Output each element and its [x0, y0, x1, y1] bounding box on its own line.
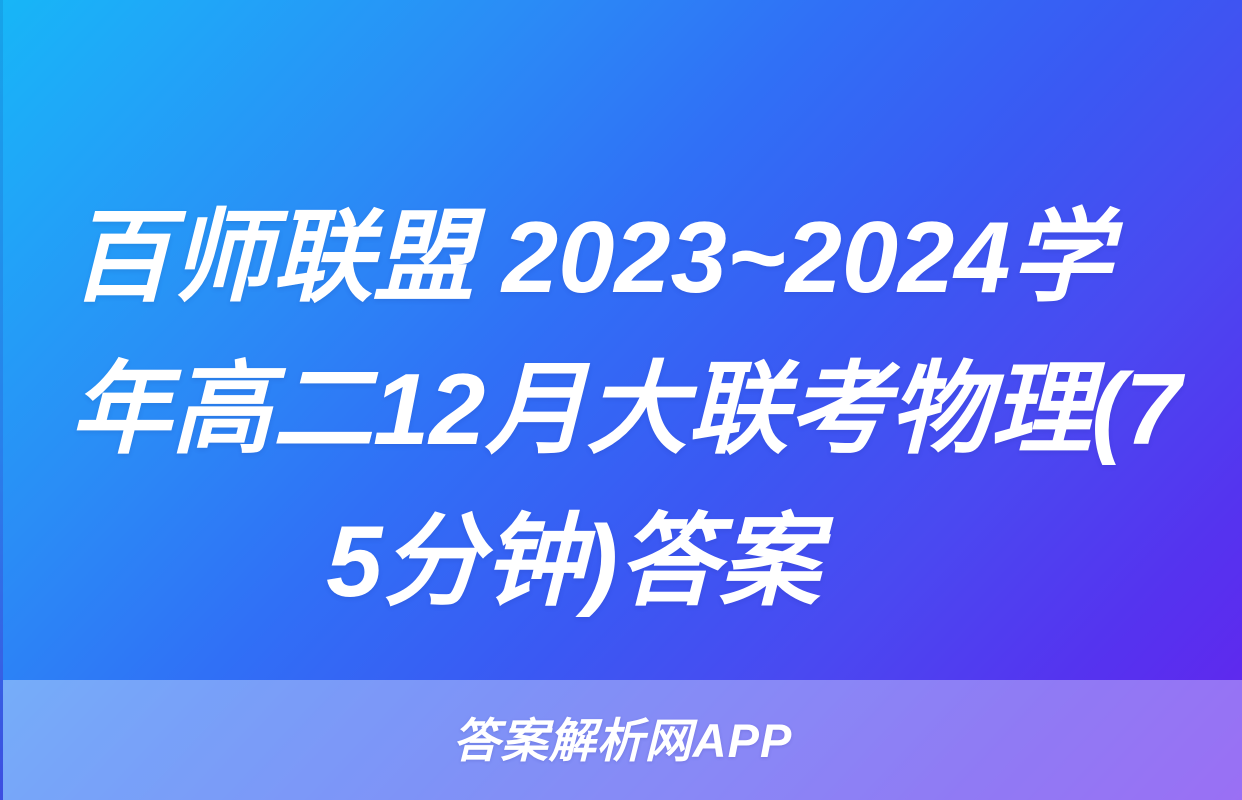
footer-watermark-band: 答案解析网APP	[3, 680, 1242, 800]
app-watermark-label: 答案解析网APP	[453, 717, 793, 764]
poster-card: 百师联盟 2023~2024学 年高二12月大联考物理(7 5分钟)答案 答案解…	[0, 0, 1242, 800]
title-line-2: 年高二12月大联考物理(7	[70, 334, 1172, 486]
page-title: 百师联盟 2023~2024学 年高二12月大联考物理(7 5分钟)答案	[0, 182, 1242, 638]
title-line-3: 5分钟)答案	[70, 486, 1172, 638]
title-line-1: 百师联盟 2023~2024学	[70, 182, 1172, 334]
